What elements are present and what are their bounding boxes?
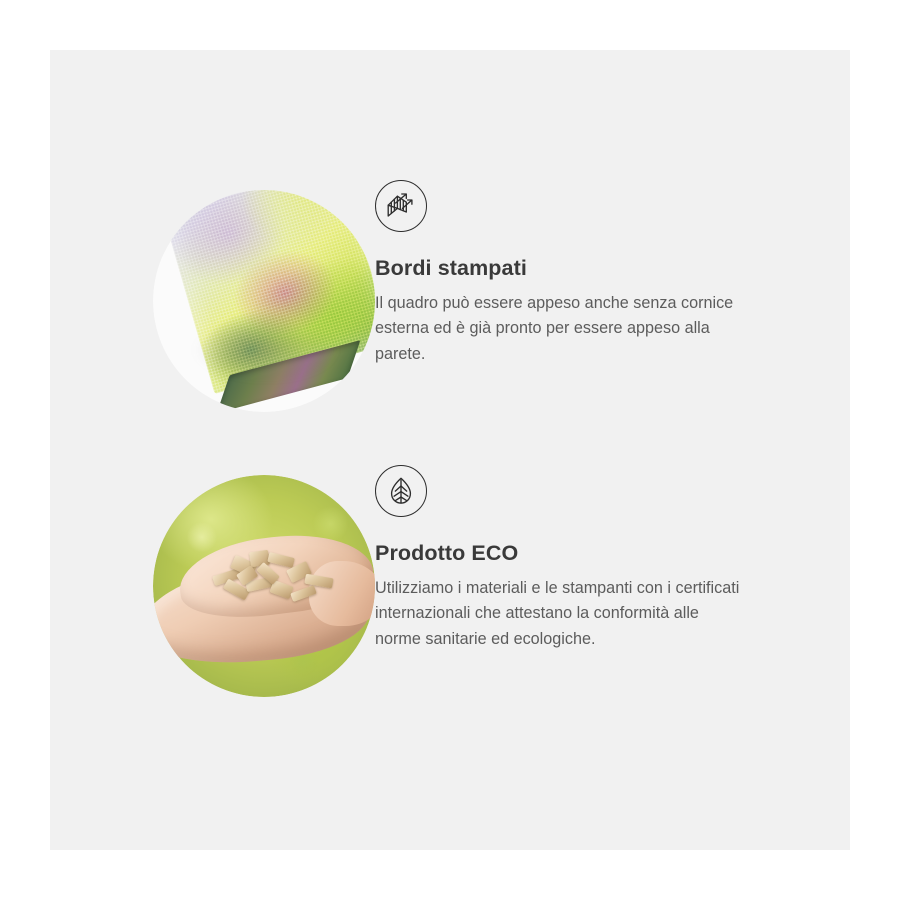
- canvas-wrapped-edge-icon: [375, 180, 427, 232]
- feature-title: Bordi stampati: [375, 256, 795, 282]
- product-feature-page: Bordi stampati Il quadro può essere appe…: [0, 0, 900, 900]
- wood-chips: [204, 544, 343, 614]
- wood-chips-in-hands-photo: [153, 475, 375, 697]
- feature-description: Utilizziamo i materiali e le stampanti c…: [375, 576, 747, 653]
- canvas-printed-edge: [217, 340, 361, 412]
- meadow-background: [153, 475, 375, 697]
- canvas-corner-photo: [153, 190, 375, 412]
- feature-printed-edges-content: Bordi stampati Il quadro può essere appe…: [375, 180, 795, 367]
- canvas-block: [158, 190, 375, 394]
- feature-description: Il quadro può essere appeso anche senza …: [375, 291, 747, 368]
- feature-title: Prodotto ECO: [375, 541, 795, 567]
- hands: [153, 542, 375, 666]
- leaf-icon: [375, 465, 427, 517]
- content-panel: Bordi stampati Il quadro può essere appe…: [50, 50, 850, 850]
- feature-eco-product-content: Prodotto ECO Utilizziamo i materiali e l…: [375, 465, 795, 652]
- canvas-photo-backdrop: [153, 190, 375, 412]
